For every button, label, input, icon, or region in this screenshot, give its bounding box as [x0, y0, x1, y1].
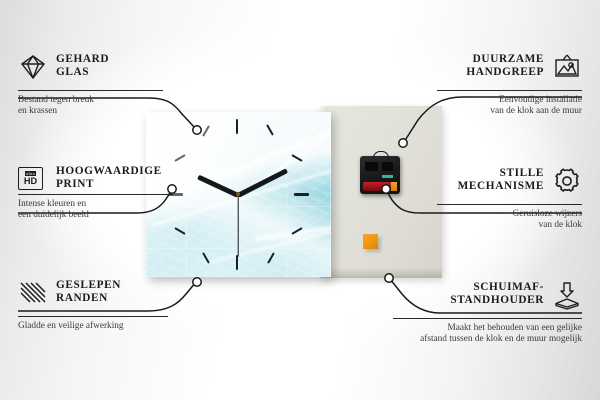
- callout-title-line2: STANDHOUDER: [450, 294, 544, 307]
- ultra-hd-badge-icon: ultra HD: [18, 164, 48, 190]
- diamond-icon: [18, 52, 48, 87]
- callout-divider: [437, 90, 582, 91]
- callout-desc-line2: afstand tussen de klok en de muur mogeli…: [388, 334, 582, 345]
- callout-gehard-glas: GEHARD GLAS Bestand tegen breuk en krass…: [18, 52, 168, 117]
- callout-desc-line1: Intense kleuren en: [18, 199, 178, 210]
- callout-desc-line2: en krassen: [18, 106, 168, 117]
- callout-desc-line2: een duidelijk beeld: [18, 210, 178, 221]
- infographic-canvas: GEHARD GLAS Bestand tegen breuk en krass…: [0, 0, 600, 400]
- framed-picture-icon: [552, 52, 582, 87]
- callout-divider: [18, 316, 168, 317]
- callout-desc-line1: Gladde en veilige afwerking: [18, 321, 173, 332]
- callout-title-line2: HANDGREEP: [466, 66, 544, 79]
- foam-spacer-pad: [363, 234, 378, 249]
- movement-label: [382, 175, 393, 178]
- callout-divider: [393, 318, 582, 319]
- gear-icon: [552, 166, 582, 201]
- callout-title-line1: GESLEPEN: [56, 279, 121, 292]
- callout-geslepen-randen: GESLEPEN RANDEN Gladde en veilige afwerk…: [18, 278, 173, 332]
- clock-movement-module: [360, 156, 400, 194]
- callout-schuimafstandhouder: SCHUIMAF- STANDHOUDER Maakt het behouden…: [388, 280, 582, 345]
- callout-desc-line1: Maakt het behouden van een gelijke: [388, 323, 582, 334]
- callout-desc-line2: van de klok: [432, 220, 582, 231]
- callout-divider: [18, 194, 173, 195]
- polished-edges-icon: [18, 278, 48, 313]
- movement-slot-left: [365, 162, 378, 171]
- foam-spacer-icon: [552, 280, 582, 315]
- callout-title-line2: RANDEN: [56, 292, 121, 305]
- callout-title-line2: GLAS: [56, 66, 109, 79]
- callout-stille-mechanisme: STILLE MECHANISME Geruisloze wijzers van…: [432, 166, 582, 231]
- callout-title-line1: SCHUIMAF-: [450, 281, 544, 294]
- callout-desc-line2: van de klok aan de muur: [432, 106, 582, 117]
- callout-desc-line1: Eenvoudige installatie: [432, 95, 582, 106]
- callout-desc-line1: Geruisloze wijzers: [432, 209, 582, 220]
- callout-duurzame-handgreep: DUURZAME HANDGREEP Eenvoudige installati…: [432, 52, 582, 117]
- callout-title-line1: STILLE: [458, 167, 544, 180]
- product-image: [142, 108, 442, 283]
- callout-title-line1: GEHARD: [56, 53, 109, 66]
- callout-title-line2: MECHANISME: [458, 180, 544, 193]
- callout-title-line1: HOOGWAARDIGE: [56, 165, 162, 178]
- callout-divider: [437, 204, 582, 205]
- callout-divider: [18, 90, 163, 91]
- callout-title-line1: DUURZAME: [466, 53, 544, 66]
- ultra-hd-main-label: HD: [24, 177, 37, 186]
- callout-hoogwaardige-print: ultra HD HOOGWAARDIGE PRINT Intense kleu…: [18, 164, 178, 221]
- callout-title-line2: PRINT: [56, 178, 162, 191]
- callout-desc-line1: Bestand tegen breuk: [18, 95, 168, 106]
- battery: [363, 182, 396, 191]
- movement-slot-right: [382, 162, 393, 171]
- hanger-loop-icon: [373, 151, 389, 160]
